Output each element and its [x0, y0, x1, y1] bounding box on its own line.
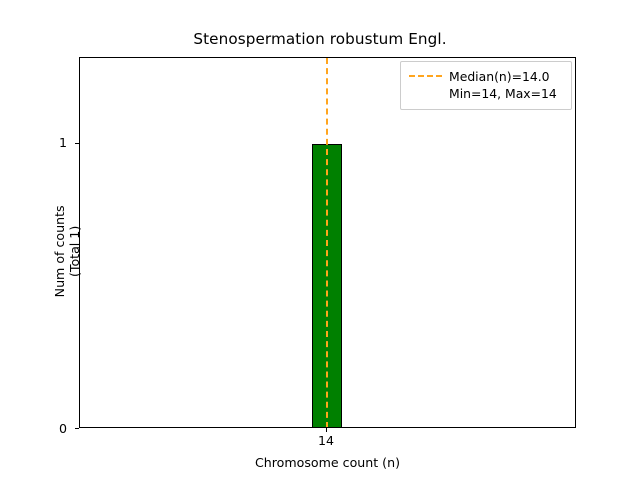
- chart-title: Stenospermation robustum Engl.: [0, 30, 640, 48]
- legend-median-text: Median(n)=14.0: [449, 69, 550, 84]
- plot-area: [79, 57, 576, 428]
- dashed-line-icon: [409, 69, 442, 83]
- chart-figure: Stenospermation robustum Engl. 0 1 14 Ch…: [0, 0, 640, 480]
- legend-entry-median: Median(n)=14.0 Min=14, Max=14: [409, 68, 563, 102]
- y-axis-label: Num of counts (Total 1): [52, 66, 83, 437]
- x-axis-label: Chromosome count (n): [79, 455, 576, 470]
- legend: Median(n)=14.0 Min=14, Max=14: [400, 61, 572, 110]
- median-line: [326, 58, 328, 428]
- xtick-label-14: 14: [318, 433, 334, 448]
- legend-minmax-text: Min=14, Max=14: [449, 86, 557, 101]
- legend-entry-text: Median(n)=14.0 Min=14, Max=14: [449, 68, 557, 102]
- xtick-mark-14: [326, 428, 327, 432]
